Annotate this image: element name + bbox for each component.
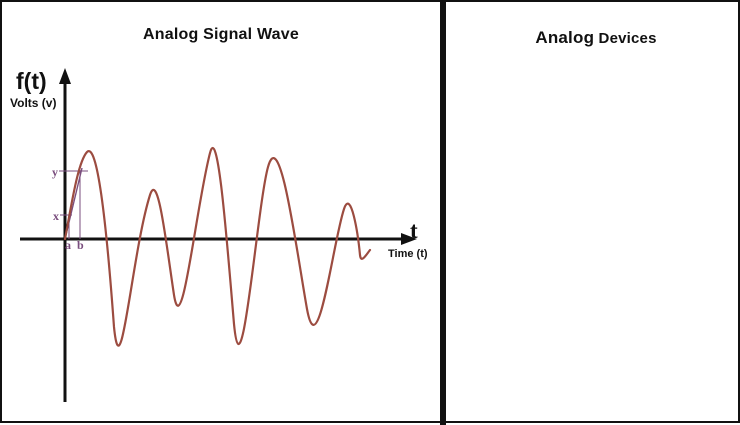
analog-waveform-chart [2,2,440,425]
annotation-label-x: x [53,209,59,224]
page-title-right-part2: Devices [599,30,657,47]
page-title-right-part1: Analog [535,28,594,47]
annotation-label-b: b [77,238,84,253]
figure-frame: Analog Signal Wave [0,0,740,423]
analog-devices-panel: Analog Devices [454,2,738,421]
annotation-guides [59,168,88,239]
panel-divider [440,2,446,425]
annotation-label-a: a [65,238,71,253]
annotation-label-y: y [52,165,58,180]
analog-signal-wave-panel: Analog Signal Wave [2,2,440,421]
x-axis-unit-label: Time (t) [388,248,428,260]
y-axis-unit-label: Volts (v) [10,96,56,110]
page-title-right: Analog Devices [454,28,738,48]
waveform-path [65,148,370,346]
y-axis-symbol-label: f(t) [16,68,47,95]
x-axis-symbol-label: t [410,218,418,244]
